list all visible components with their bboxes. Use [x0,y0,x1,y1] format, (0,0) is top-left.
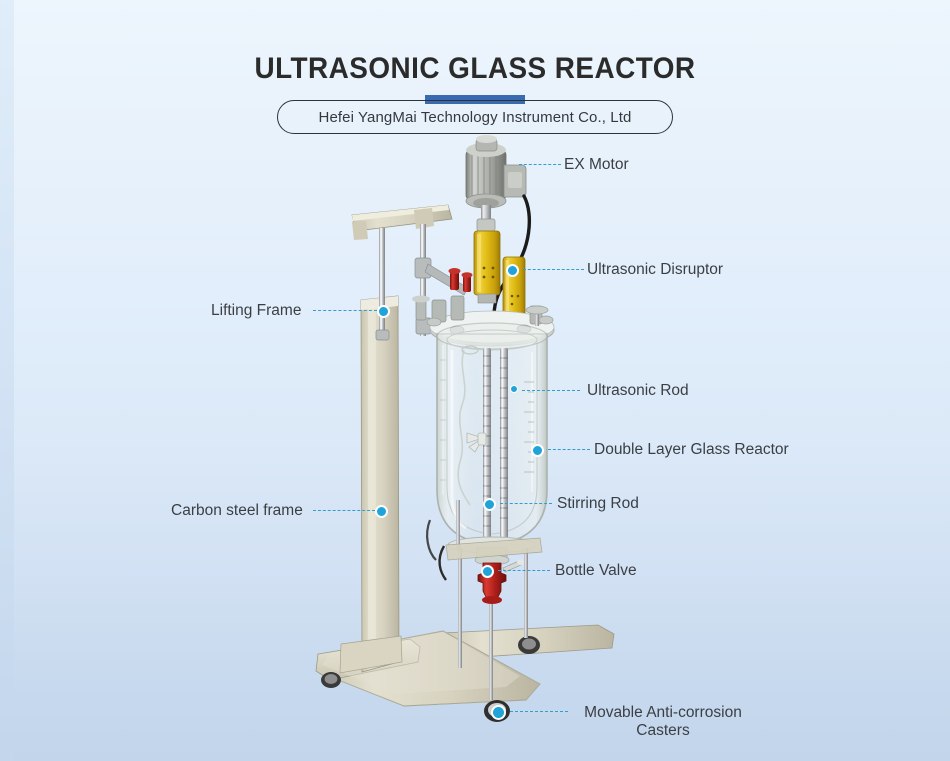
callout-dot-stirring-rod [483,498,496,511]
callout-dot-ultrasonic-rod [510,385,518,393]
base-frame [316,621,614,722]
callout-label-ultrasonic-rod: Ultrasonic Rod [587,382,689,400]
callout-line-double-layer-glass-reactor [548,449,590,450]
callout-line-carbon-steel-frame [313,510,375,511]
callout-dot-movable-casters [491,705,506,720]
callout-dot-bottle-valve [481,565,494,578]
callout-line-lifting-frame [313,310,377,311]
callout-line-movable-casters [510,711,568,712]
product-infographic: ULTRASONIC GLASS REACTOR Hefei YangMai T… [0,0,950,761]
company-name: Hefei YangMai Technology Instrument Co.,… [319,109,632,126]
callout-label-ex-motor: EX Motor [564,156,629,174]
callout-line-ultrasonic-disruptor [523,269,584,270]
callout-line-bottle-valve [498,570,550,571]
callout-label-ultrasonic-disruptor: Ultrasonic Disruptor [587,261,723,279]
ultrasonic-rod [483,348,491,548]
lid-valve-b [462,272,473,292]
lid-valve-a [449,268,461,290]
caster-rear-right [518,636,540,654]
callout-label-double-layer-glass-reactor: Double Layer Glass Reactor [594,441,789,459]
carbon-steel-column [340,296,402,673]
callout-dot-lifting-frame [377,305,390,318]
callout-line-ex-motor [519,164,561,165]
callout-label-lifting-frame: Lifting Frame [211,302,301,320]
caster-front-left [321,672,341,688]
double-layer-glass-reactor [437,323,547,545]
ultrasonic-disruptor [474,231,525,319]
callout-line-ultrasonic-rod [522,390,580,391]
callout-line-stirring-rod [500,503,552,504]
callout-label-carbon-steel-frame: Carbon steel frame [171,502,303,520]
side-port-left [412,296,430,321]
callout-dot-double-layer-glass-reactor [531,444,544,457]
page-title: ULTRASONIC GLASS REACTOR [33,52,917,86]
company-name-pill: Hefei YangMai Technology Instrument Co.,… [277,100,673,134]
callout-label-stirring-rod: Stirring Rod [557,495,639,513]
callout-label-movable-casters: Movable Anti-corrosion Casters [573,704,753,740]
callout-label-bottle-valve: Bottle Valve [555,562,637,580]
callout-dot-carbon-steel-frame [375,505,388,518]
callout-dot-ultrasonic-disruptor [506,264,519,277]
